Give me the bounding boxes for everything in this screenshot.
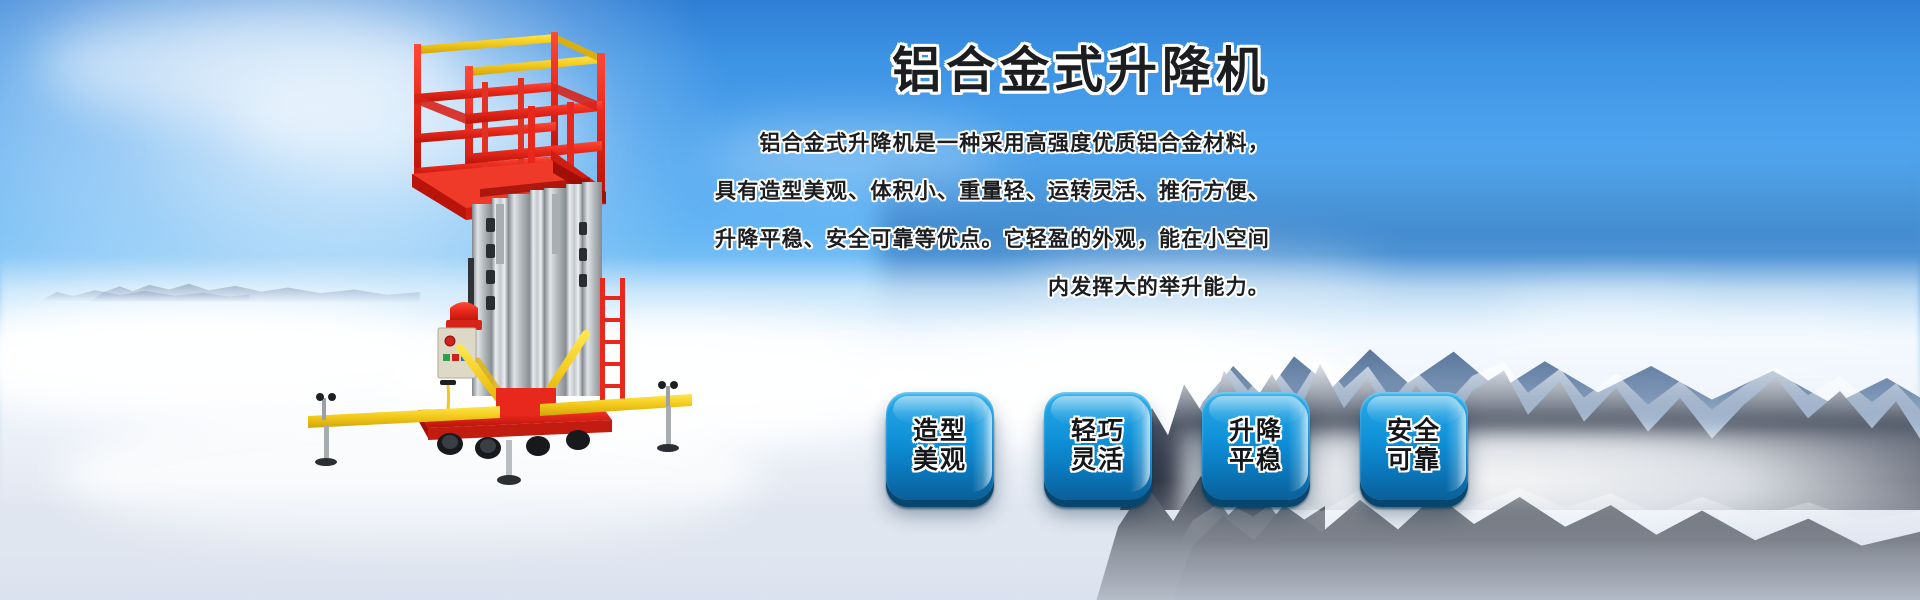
feature-label-line2: 灵活 [1071, 446, 1125, 476]
feature-label-line2: 美观 [913, 446, 967, 476]
page-title: 铝合金式升降机 [700, 45, 1270, 99]
feature-label-line2: 可靠 [1387, 446, 1441, 476]
description-line: 升降平稳、安全可靠等优点。它轻盈的外观，能在小空间 [700, 229, 1270, 250]
description-line: 内发挥大的举升能力。 [700, 277, 1270, 298]
feature-badge-lightweight[interactable]: 轻巧 灵活 [1044, 392, 1152, 500]
feature-label-line1: 安全 [1387, 417, 1441, 447]
feature-badge-smooth-lift[interactable]: 升降 平稳 [1202, 392, 1310, 500]
feature-label-line1: 升降 [1229, 417, 1283, 447]
side-ladder [600, 278, 625, 406]
feature-label-line1: 造型 [913, 417, 967, 447]
feature-label-line1: 轻巧 [1071, 417, 1125, 447]
telescopic-masts [468, 182, 602, 396]
description-line: 铝合金式升降机是一种采用高强度优质铝合金材料， [700, 133, 1270, 154]
aluminium-alloy-lift-illustration [300, 8, 700, 488]
description-line: 具有造型美观、体积小、重量轻、运转灵活、推行方便、 [700, 181, 1270, 202]
feature-badge-safety[interactable]: 安全 可靠 [1360, 392, 1468, 500]
description: 铝合金式升降机是一种采用高强度优质铝合金材料， 具有造型美观、体积小、重量轻、运… [700, 133, 1270, 298]
product-banner: 铝合金式升降机 铝合金式升降机是一种采用高强度优质铝合金材料， 具有造型美观、体… [0, 0, 1920, 600]
feature-badge-appearance[interactable]: 造型 美观 [886, 392, 994, 500]
feature-badge-group: 造型 美观 轻巧 灵活 升降 平稳 安全 可靠 [886, 392, 1468, 500]
feature-label-line2: 平稳 [1229, 446, 1283, 476]
copy-block: 铝合金式升降机 铝合金式升降机是一种采用高强度优质铝合金材料， 具有造型美观、体… [700, 45, 1270, 325]
